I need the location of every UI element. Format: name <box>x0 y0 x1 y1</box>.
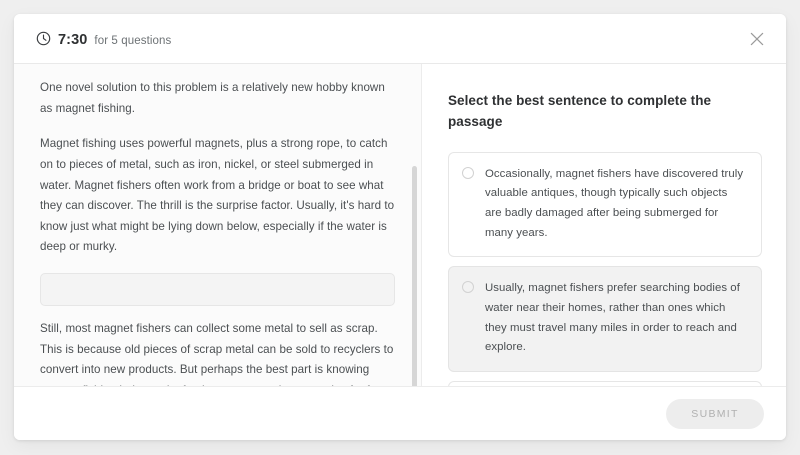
timer-group: 7:30 for 5 questions <box>36 29 171 48</box>
quiz-modal: 7:30 for 5 questions One novel solution … <box>14 14 786 440</box>
option-label: Usually, magnet fishers prefer searching… <box>485 279 747 357</box>
option-card-c[interactable]: Generally, the low cost of powerful magn… <box>448 381 762 386</box>
modal-footer: SUBMIT <box>14 386 786 440</box>
timer-value: 7:30 <box>58 32 87 48</box>
option-card-a[interactable]: Occasionally, magnet fishers have discov… <box>448 152 762 257</box>
radio-icon[interactable] <box>462 167 474 179</box>
radio-icon[interactable] <box>462 281 474 293</box>
passage-paragraph: Still, most magnet fishers can collect s… <box>40 319 395 386</box>
passage-scrollbar[interactable] <box>412 68 417 382</box>
answer-blank-slot[interactable] <box>40 273 395 306</box>
close-icon <box>750 32 764 46</box>
close-button[interactable] <box>746 28 768 50</box>
option-label: Occasionally, magnet fishers have discov… <box>485 165 747 243</box>
passage-paragraph: Magnet fishing uses powerful magnets, pl… <box>40 134 395 258</box>
passage-scrollbar-thumb[interactable] <box>412 166 417 386</box>
option-card-b[interactable]: Usually, magnet fishers prefer searching… <box>448 266 762 371</box>
timer-subtitle: for 5 questions <box>94 35 171 47</box>
clock-icon <box>36 31 51 46</box>
question-pane: Select the best sentence to complete the… <box>422 64 786 386</box>
modal-body: One novel solution to this problem is a … <box>14 64 786 386</box>
passage-pane: One novel solution to this problem is a … <box>14 64 422 386</box>
passage-paragraph: One novel solution to this problem is a … <box>40 78 395 119</box>
passage-text: One novel solution to this problem is a … <box>40 78 395 386</box>
question-title: Select the best sentence to complete the… <box>448 91 728 133</box>
modal-header: 7:30 for 5 questions <box>14 14 786 64</box>
option-list: Occasionally, magnet fishers have discov… <box>448 152 762 386</box>
submit-button[interactable]: SUBMIT <box>666 399 764 429</box>
